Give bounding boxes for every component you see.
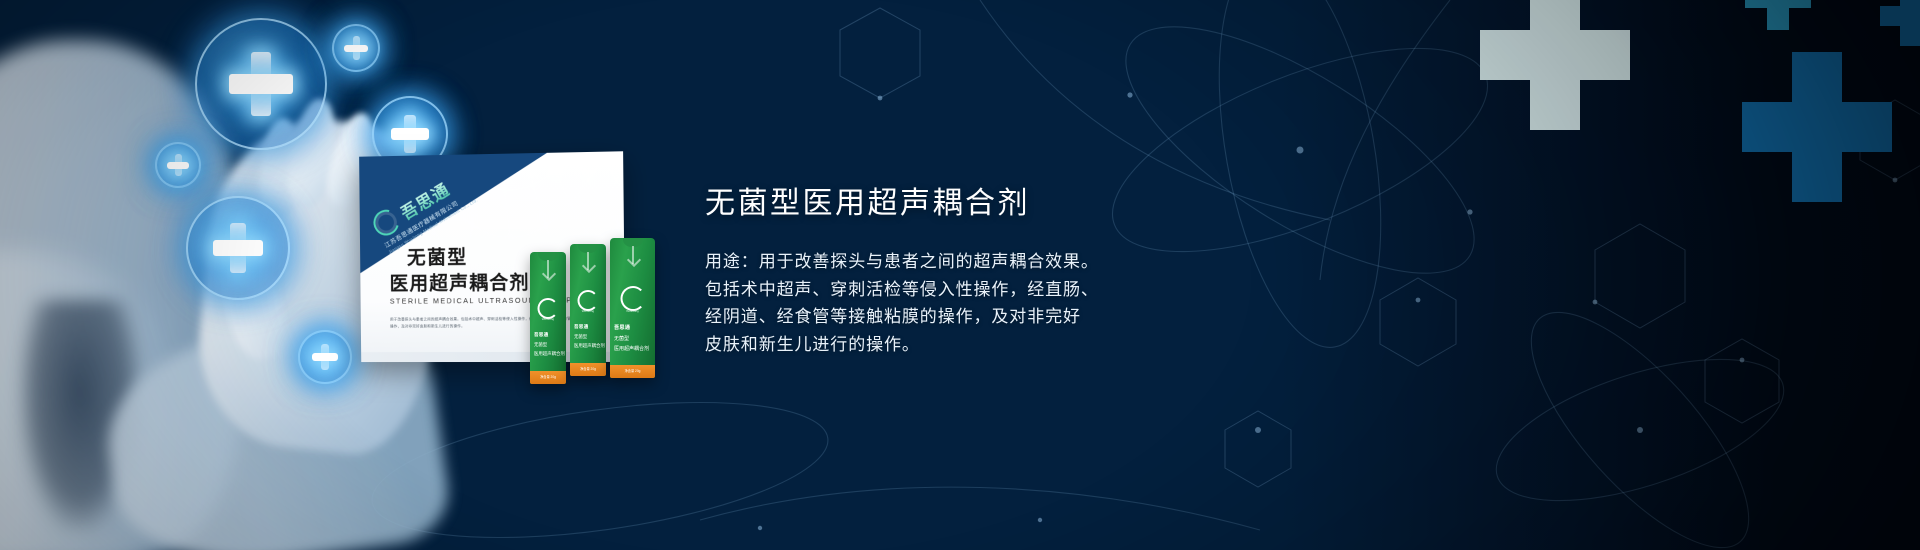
background-vignette [0,0,1920,550]
medical-product-banner: 吾思通 江苏吾思通医疗器械有限公司 Jiangsu Wusitong Medic… [0,0,1920,550]
